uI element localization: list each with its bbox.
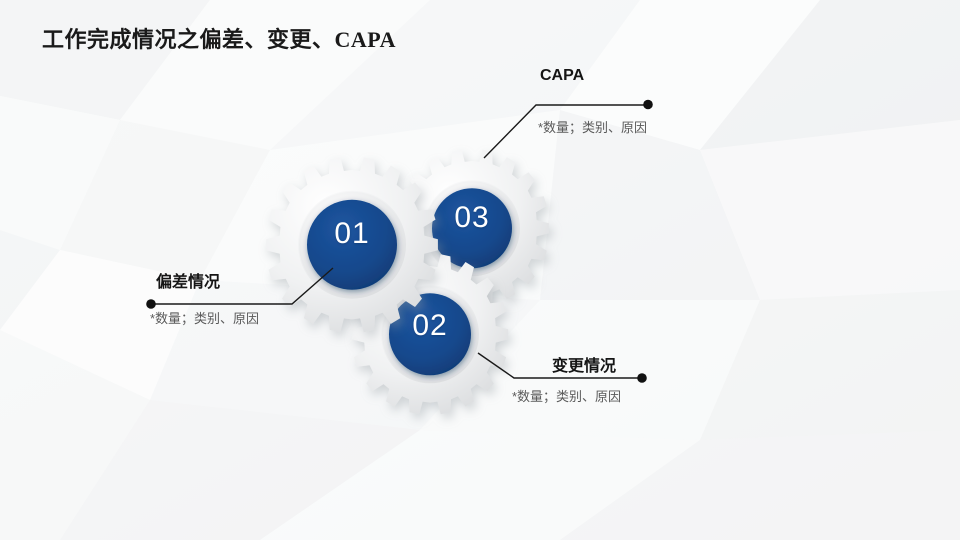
callout-title-capa: CAPA [540, 67, 584, 85]
callout-subtitle-capa: *数量；类别、原因 [538, 117, 647, 136]
gear-cluster [0, 0, 960, 540]
callout-subtitle-deviation: *数量；类别、原因 [150, 308, 259, 327]
callout-title-change: 变更情况 [552, 352, 616, 376]
gear-01-hub [307, 200, 397, 290]
gear-02-hub [389, 293, 471, 375]
callout-title-deviation: 偏差情况 [156, 268, 220, 292]
slide-canvas: 工作完成情况之偏差、变更、CAPA [0, 0, 960, 540]
callout-subtitle-change: *数量；类别、原因 [512, 386, 621, 405]
